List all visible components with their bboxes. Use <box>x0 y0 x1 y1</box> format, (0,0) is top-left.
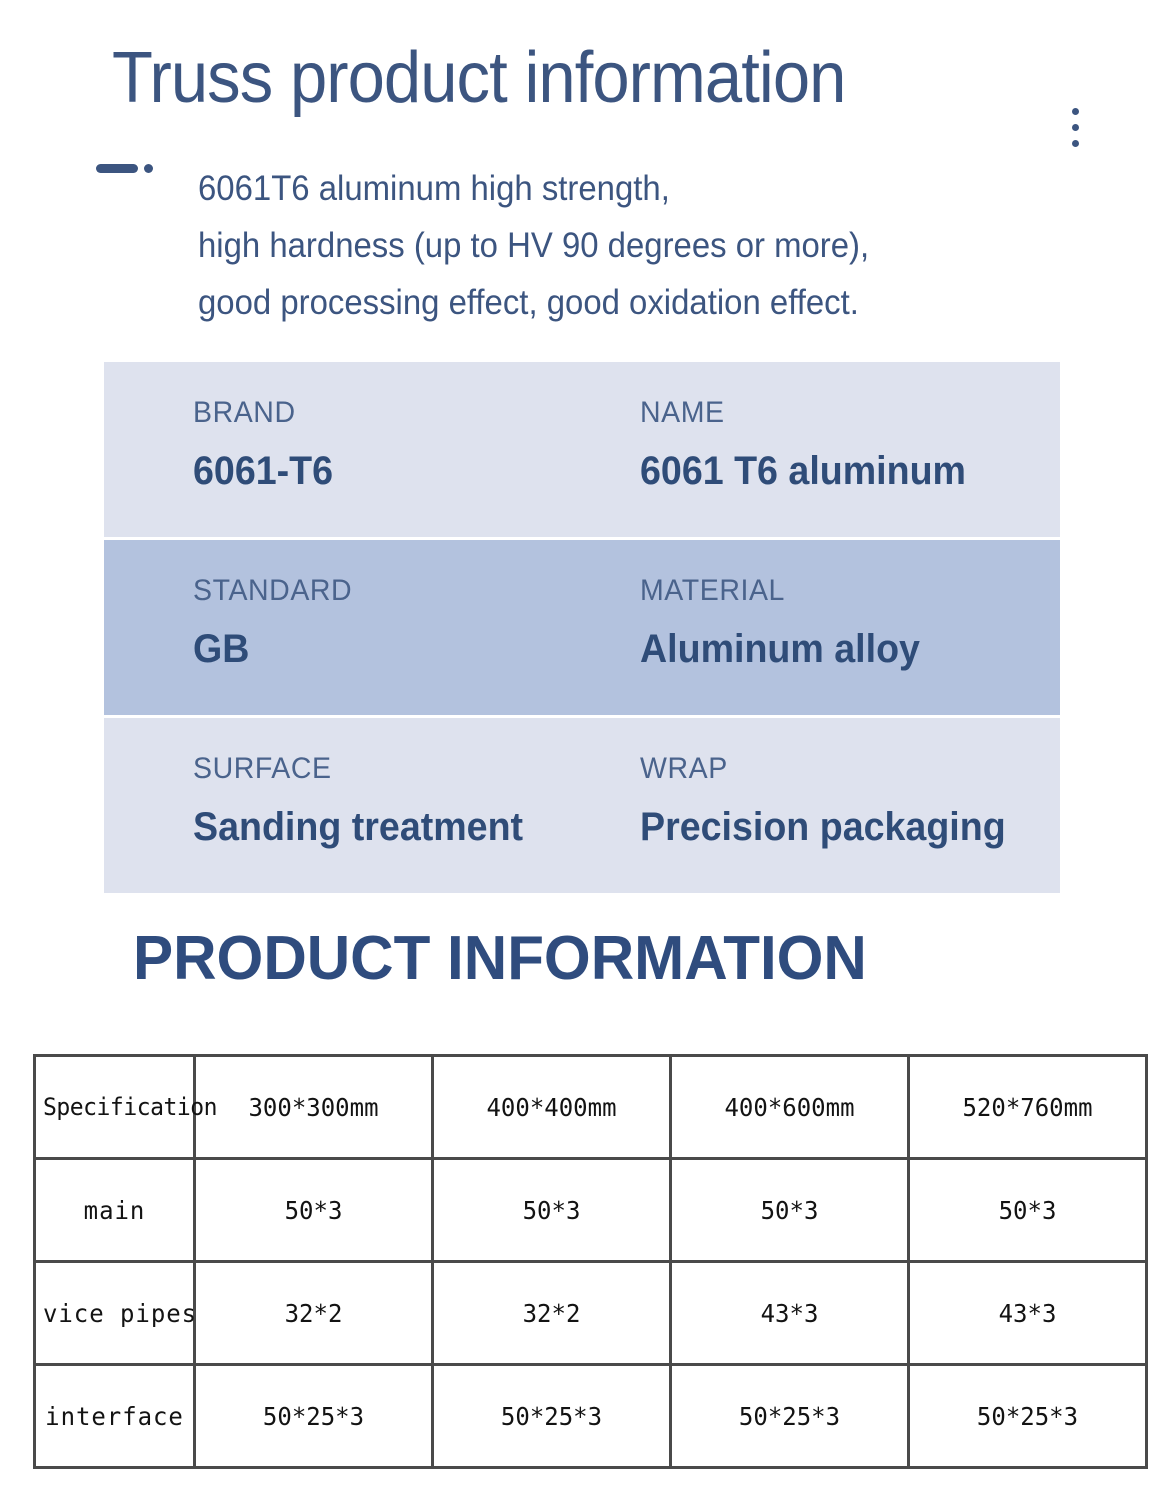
spec-row: SURFACE Sanding treatment WRAP Precision… <box>104 718 1060 893</box>
cell-text: 50*25*3 <box>681 1402 899 1431</box>
cell-text: 32*2 <box>205 1299 423 1328</box>
spec-value: 6061-T6 <box>193 449 551 493</box>
table-row: vice pipes 32*2 32*2 43*3 43*3 <box>35 1262 1147 1365</box>
spec-value: Precision packaging <box>640 805 1035 849</box>
table-row: Specification 300*300mm 400*400mm 400*60… <box>35 1056 1147 1159</box>
cell-text: 50*25*3 <box>205 1402 423 1431</box>
cell-text: 50*25*3 <box>443 1402 661 1431</box>
spec-row: STANDARD GB MATERIAL Aluminum alloy <box>104 540 1060 715</box>
cell-text: 50*3 <box>443 1196 661 1225</box>
cell-text: 50*25*3 <box>919 1402 1137 1431</box>
table-cell: 50*25*3 <box>671 1365 909 1468</box>
product-information-table: Specification 300*300mm 400*400mm 400*60… <box>33 1054 1145 1469</box>
table-cell: 43*3 <box>909 1262 1147 1365</box>
cell-text: vice pipes <box>43 1299 186 1328</box>
spec-label: BRAND <box>193 396 555 429</box>
section-heading: PRODUCT INFORMATION <box>133 928 867 990</box>
subtitle: 6061T6 aluminum high strength, high hard… <box>198 160 1025 331</box>
cell-text: 50*3 <box>681 1196 899 1225</box>
cell-text: 32*2 <box>443 1299 661 1328</box>
ellipsis-dot <box>1072 140 1079 147</box>
table-cell: 50*25*3 <box>433 1365 671 1468</box>
table-cell: 50*25*3 <box>195 1365 433 1468</box>
cell-text: 300*300mm <box>205 1093 423 1122</box>
table-cell: 32*2 <box>195 1262 433 1365</box>
cell-text: 50*3 <box>919 1196 1137 1225</box>
spec-label: STANDARD <box>193 574 555 607</box>
cell-text: 43*3 <box>919 1299 1137 1328</box>
table-cell: 50*3 <box>909 1159 1147 1262</box>
table-header-cell: 400*600mm <box>671 1056 909 1159</box>
cell-text: 400*400mm <box>443 1093 661 1122</box>
cell-text: interface <box>43 1402 186 1431</box>
table-cell: 32*2 <box>433 1262 671 1365</box>
subtitle-line-1: 6061T6 aluminum high strength, <box>198 160 1025 217</box>
specification-summary-table: BRAND 6061-T6 NAME 6061 T6 aluminum STAN… <box>104 362 1060 893</box>
spec-label: WRAP <box>640 752 1039 785</box>
spec-value: GB <box>193 627 551 671</box>
spec-value: Aluminum alloy <box>640 627 1035 671</box>
row-header-vice-pipes: vice pipes <box>35 1262 195 1365</box>
spec-cell-brand: BRAND 6061-T6 <box>104 362 574 537</box>
cell-text: 400*600mm <box>681 1093 899 1122</box>
table-cell: 50*3 <box>433 1159 671 1262</box>
spec-cell-surface: SURFACE Sanding treatment <box>104 718 574 893</box>
cell-text: main <box>43 1196 186 1225</box>
spec-cell-name: NAME 6061 T6 aluminum <box>574 362 1060 537</box>
table-cell: 50*3 <box>195 1159 433 1262</box>
vertical-ellipsis-icon <box>1072 108 1079 147</box>
spec-value: Sanding treatment <box>193 805 551 849</box>
ellipsis-dot <box>1072 124 1079 131</box>
table-header-specification: Specification <box>35 1056 195 1159</box>
table-cell: 50*25*3 <box>909 1365 1147 1468</box>
cell-text: 43*3 <box>681 1299 899 1328</box>
row-header-interface: interface <box>35 1365 195 1468</box>
marker-bar <box>96 164 138 173</box>
cell-text: Specification <box>43 1093 186 1121</box>
spec-cell-standard: STANDARD GB <box>104 540 574 715</box>
table-header-cell: 520*760mm <box>909 1056 1147 1159</box>
page-title: Truss product information <box>112 42 845 114</box>
cell-text: 50*3 <box>205 1196 423 1225</box>
dash-dot-marker-icon <box>96 164 153 173</box>
table-row: main 50*3 50*3 50*3 50*3 <box>35 1159 1147 1262</box>
spec-label: SURFACE <box>193 752 555 785</box>
table-cell: 50*3 <box>671 1159 909 1262</box>
row-header-main: main <box>35 1159 195 1262</box>
spec-label: NAME <box>640 396 1039 429</box>
spec-cell-material: MATERIAL Aluminum alloy <box>574 540 1060 715</box>
table-row: interface 50*25*3 50*25*3 50*25*3 50*25*… <box>35 1365 1147 1468</box>
table-header-cell: 300*300mm <box>195 1056 433 1159</box>
table-cell: 43*3 <box>671 1262 909 1365</box>
marker-dot <box>144 164 153 173</box>
subtitle-line-2: high hardness (up to HV 90 degrees or mo… <box>198 217 1025 274</box>
spec-cell-wrap: WRAP Precision packaging <box>574 718 1060 893</box>
table-header-cell: 400*400mm <box>433 1056 671 1159</box>
spec-label: MATERIAL <box>640 574 1039 607</box>
cell-text: 520*760mm <box>919 1093 1137 1122</box>
ellipsis-dot <box>1072 108 1079 115</box>
spec-value: 6061 T6 aluminum <box>640 449 1035 493</box>
spec-row: BRAND 6061-T6 NAME 6061 T6 aluminum <box>104 362 1060 537</box>
subtitle-line-3: good processing effect, good oxidation e… <box>198 274 1025 331</box>
